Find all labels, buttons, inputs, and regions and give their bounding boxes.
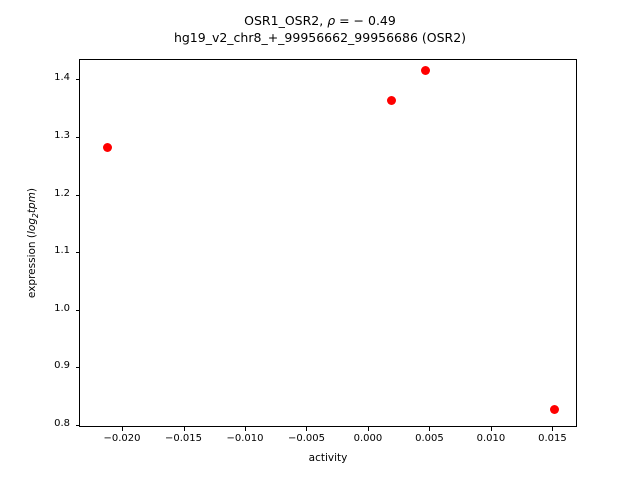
scatter-point [387,96,396,105]
chart-title-suffix: = − 0.49 [335,13,396,28]
scatter-point [421,66,430,75]
x-axis-label: activity [79,452,577,464]
x-axis-tick-label: −0.020 [87,433,157,444]
x-axis-tick-label: −0.015 [149,433,219,444]
y-axis-tick [76,252,80,253]
y-axis-tick [76,367,80,368]
y-axis-label: expression (log2tpm) [26,0,40,492]
y-axis-tick [76,310,80,311]
y-axis-label-prefix: expression ( [26,234,38,298]
scatter-point [550,405,559,414]
scatter-point [103,143,112,152]
x-axis-tick [552,427,553,431]
y-axis-tick [76,425,80,426]
matplotlib-figure: OSR1_OSR2, ρ = − 0.49 hg19_v2_chr8_+_999… [0,0,640,480]
chart-title-line-1: OSR1_OSR2, ρ = − 0.49 [0,12,640,29]
chart-title: OSR1_OSR2, ρ = − 0.49 hg19_v2_chr8_+_999… [0,12,640,46]
chart-title-prefix: OSR1_OSR2, [244,13,327,28]
scatter-series [80,60,576,426]
y-axis-label-math-rest: tpm [26,192,38,213]
x-axis-tick [368,427,369,431]
y-axis-tick [76,79,80,80]
y-axis-label-math: log2tpm [26,192,38,234]
chart-subtitle: hg19_v2_chr8_+_99956662_99956686 (OSR2) [0,29,640,46]
x-axis-tick-label: −0.005 [271,433,341,444]
x-axis-tick-label: 0.010 [456,433,526,444]
y-axis-tick [76,195,80,196]
x-axis-tick-label: 0.000 [333,433,403,444]
plot-area [79,59,577,427]
y-axis-tick [76,137,80,138]
x-axis-tick [245,427,246,431]
x-axis-tick-label: 0.005 [394,433,464,444]
x-axis-tick-label: 0.015 [517,433,587,444]
y-axis-label-math-base: log [26,218,38,234]
x-axis-tick [306,427,307,431]
x-axis-tick [122,427,123,431]
x-axis-tick [429,427,430,431]
y-axis-label-suffix: ) [26,188,38,192]
y-axis-label-math-sub: 2 [31,213,40,218]
x-axis-tick [184,427,185,431]
x-axis-tick [491,427,492,431]
rho-symbol: ρ [327,13,335,28]
x-axis-tick-label: −0.010 [210,433,280,444]
